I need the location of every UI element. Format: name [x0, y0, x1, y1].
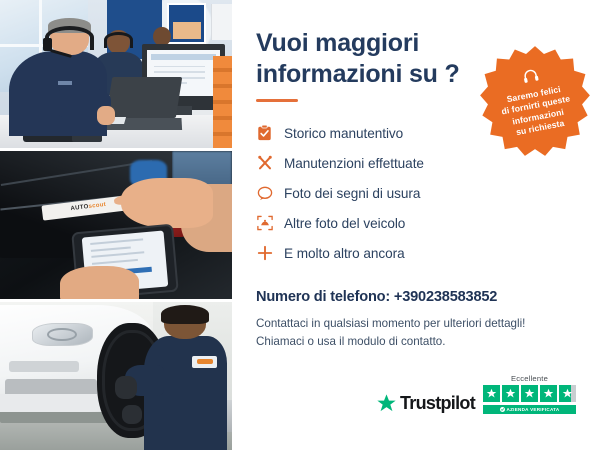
orange-shelving — [213, 56, 232, 148]
wrench-cross-icon — [256, 155, 273, 172]
verified-business-badge: AZIENDA VERIFICATA — [483, 405, 576, 414]
contact-subtext: Contattaci in qualsiasi momento per ulte… — [256, 315, 578, 350]
feature-item-foto-segni-usura: Foto dei segni di usura — [256, 179, 578, 207]
wall-sheet — [211, 4, 232, 40]
verified-check-icon — [500, 407, 505, 412]
auto-sticker-text: AUTOscout — [70, 202, 106, 212]
star-3 — [521, 385, 538, 402]
feature-item-molto-altro: E molto altro ancora — [256, 239, 578, 267]
star-1 — [483, 385, 500, 402]
verified-label: AZIENDA VERIFICATA — [507, 407, 560, 412]
headline-line-2: informazioni su ? — [256, 60, 460, 88]
trustpilot-rating: Eccellente — [483, 374, 576, 414]
star-5-partial — [559, 385, 576, 402]
photo-scan-icon — [256, 215, 273, 232]
feature-label: Manutenzioni effettuate — [284, 156, 424, 171]
star-2 — [502, 385, 519, 402]
speech-bubble-icon — [256, 185, 273, 202]
front-bumper — [0, 394, 107, 412]
headlight — [32, 323, 92, 347]
trustpilot-wordmark: Trustpilot — [400, 393, 475, 414]
trustpilot-star-icon — [376, 393, 397, 414]
headline-line-1: Vuoi maggiori — [256, 29, 419, 57]
page-title: Vuoi maggiori informazioni su ? — [256, 28, 471, 89]
phone-number[interactable]: Numero di telefono: +390238583852 — [256, 289, 578, 305]
mechanic — [144, 308, 228, 450]
upper-grille — [9, 361, 79, 371]
photo-column: AUTOscout — [0, 0, 232, 450]
trustpilot-logo: Trustpilot — [376, 393, 475, 414]
trustpilot-widget[interactable]: Trustpilot Eccellente — [376, 374, 576, 414]
trustpilot-rating-label: Eccellente — [511, 374, 548, 383]
contact-subtext-line-2: Chiamaci o usa il modulo di contatto. — [256, 333, 578, 351]
contact-block: Numero di telefono: +390238583852 Contat… — [256, 289, 578, 350]
callout-badge: Saremo felici di fornirti queste informa… — [479, 45, 591, 157]
title-underline-rule — [256, 99, 298, 102]
vehicle-inspection-photo: AUTOscout — [0, 151, 232, 299]
call-center-photo — [0, 0, 232, 148]
starburst-shape-icon — [479, 45, 591, 157]
feature-label: Foto dei segni di usura — [284, 186, 420, 201]
clipboard-check-icon — [256, 125, 273, 142]
advertisement-banner: AUTOscout — [0, 0, 600, 450]
plus-icon — [256, 245, 273, 262]
mechanic-wheel-photo — [0, 302, 232, 450]
contact-subtext-line-1: Contattaci in qualsiasi momento per ulte… — [256, 315, 578, 333]
feature-label: Altre foto del veicolo — [284, 216, 405, 231]
laptop — [106, 77, 182, 118]
feature-label: Storico manutentivo — [284, 126, 403, 141]
feature-item-altre-foto-veicolo: Altre foto del veicolo — [256, 209, 578, 237]
star-4 — [540, 385, 557, 402]
content-panel: Vuoi maggiori informazioni su ? Saremo f… — [232, 0, 600, 450]
hand-holding-phone — [60, 266, 139, 299]
feature-label: E molto altro ancora — [284, 246, 405, 261]
trustpilot-stars — [483, 385, 576, 402]
call-agent — [9, 21, 111, 136]
